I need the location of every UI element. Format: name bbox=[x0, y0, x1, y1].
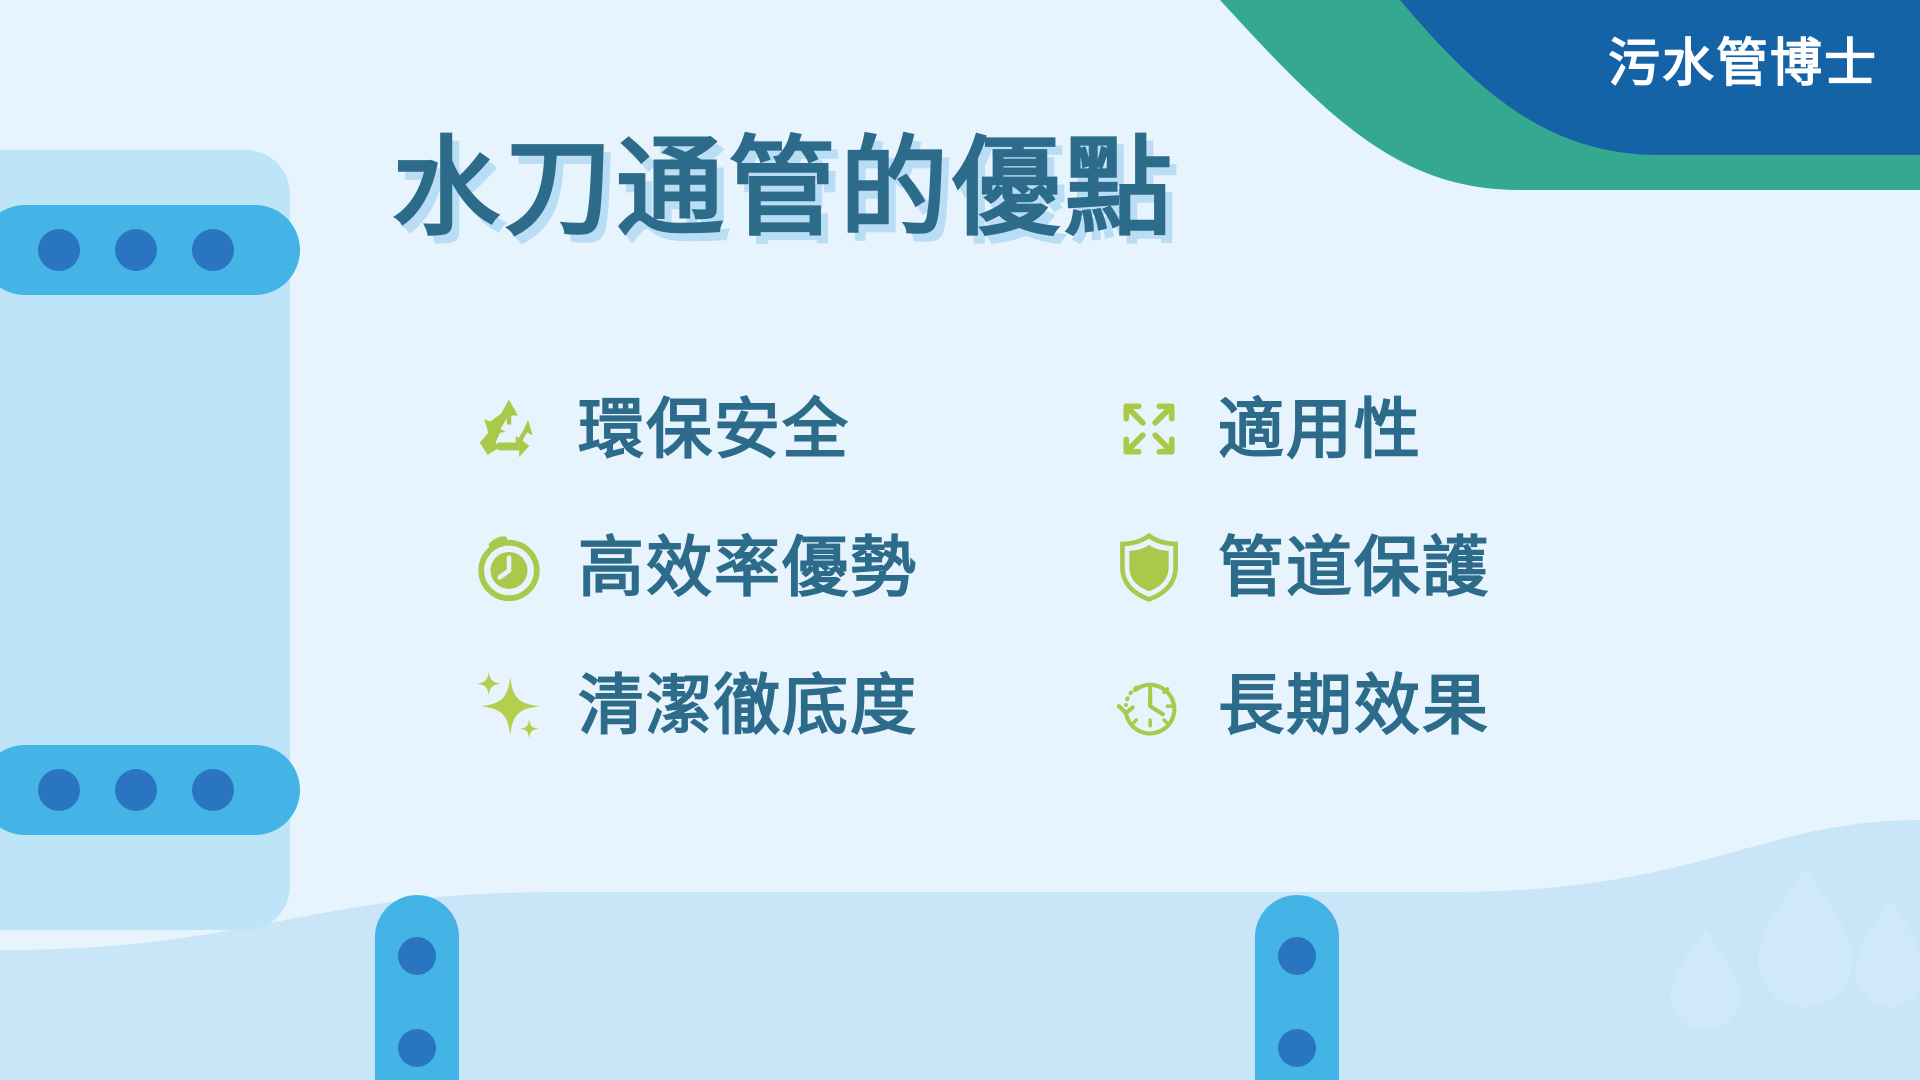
bolt-icon bbox=[115, 229, 157, 271]
brand-name: 污水管博士 bbox=[1608, 38, 1878, 90]
bolt-icon bbox=[192, 229, 234, 271]
feature-item-eco-safety[interactable]: 環保安全 bbox=[470, 390, 1110, 468]
bolt-icon bbox=[398, 937, 436, 975]
bolt-icon bbox=[1278, 937, 1316, 975]
stopwatch-icon bbox=[470, 528, 548, 606]
bolt-icon bbox=[398, 1029, 436, 1067]
feature-label: 環保安全 bbox=[578, 396, 850, 462]
bolt-icon bbox=[192, 769, 234, 811]
feature-item-long-term-effect[interactable]: 長期效果 bbox=[1110, 666, 1670, 744]
title-block: 水刀通管的優點 bbox=[392, 130, 1176, 247]
clock-arrow-icon bbox=[1110, 666, 1188, 744]
pipe-flange-top bbox=[0, 205, 300, 295]
feature-item-efficiency[interactable]: 高效率優勢 bbox=[470, 528, 1110, 606]
feature-label: 管道保護 bbox=[1218, 534, 1490, 600]
expand-arrows-icon bbox=[1110, 390, 1188, 468]
bolt-icon bbox=[1278, 1029, 1316, 1067]
feature-label: 高效率優勢 bbox=[578, 534, 918, 600]
vertical-pipe-left bbox=[375, 895, 459, 1080]
slide-canvas: 污水管博士 水刀通管的優點 bbox=[0, 0, 1920, 1080]
shield-icon bbox=[1110, 528, 1188, 606]
vertical-pipe-right bbox=[1255, 895, 1339, 1080]
feature-item-cleaning-thoroughness[interactable]: 清潔徹底度 bbox=[470, 666, 1110, 744]
page-title: 水刀通管的優點 bbox=[392, 130, 1176, 247]
brand-banner bbox=[1100, 0, 1920, 190]
bolt-icon bbox=[115, 769, 157, 811]
water-droplets-icon bbox=[1610, 860, 1920, 1050]
left-pipe-body bbox=[0, 150, 290, 930]
feature-item-pipe-protection[interactable]: 管道保護 bbox=[1110, 528, 1670, 606]
bolt-icon bbox=[38, 229, 80, 271]
recycle-icon bbox=[470, 390, 548, 468]
feature-item-applicability[interactable]: 適用性 bbox=[1110, 390, 1670, 468]
feature-grid: 環保安全 適用性 bbox=[470, 360, 1670, 774]
feature-label: 適用性 bbox=[1218, 396, 1422, 462]
feature-label: 清潔徹底度 bbox=[578, 672, 918, 738]
bolt-icon bbox=[38, 769, 80, 811]
pipe-flange-bottom bbox=[0, 745, 300, 835]
feature-label: 長期效果 bbox=[1218, 672, 1490, 738]
sparkles-icon bbox=[470, 666, 548, 744]
